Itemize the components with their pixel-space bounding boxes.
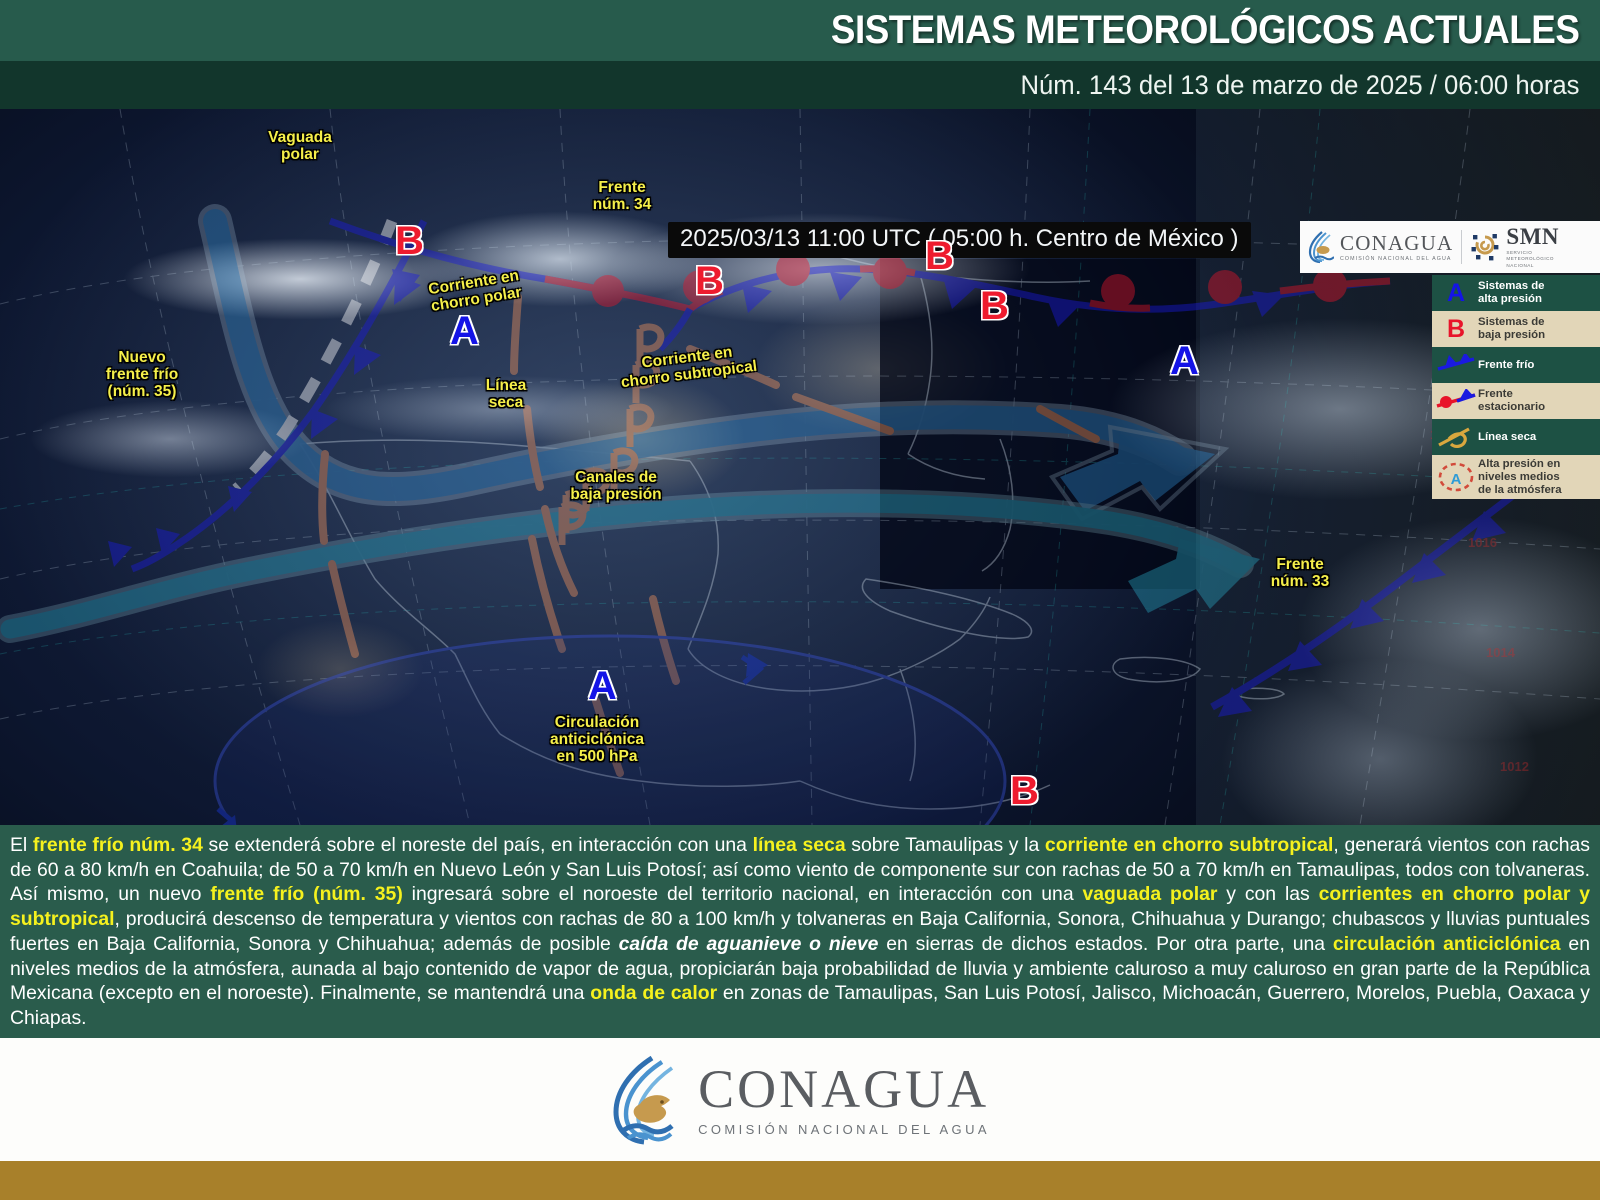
label-circulacion-anticiclonica: Circulación anticiclónica en 500 hPa xyxy=(512,714,682,765)
label-canales-baja-presion: Canales de baja presión xyxy=(536,469,696,503)
forecast-summary-text: El frente frío núm. 34 se extenderá sobr… xyxy=(0,825,1600,1038)
conagua-logo-subtitle: COMISIÓN NACIONAL DEL AGUA xyxy=(1340,256,1453,262)
glyph-low-pressure-south: B xyxy=(1010,769,1039,814)
legend-item-stationary-front: Frente estacionario xyxy=(1432,383,1600,419)
legend-label-cold-front: Frente frío xyxy=(1478,359,1534,372)
weather-bulletin-page: SISTEMAS METEOROLÓGICOS ACTUALES Núm. 14… xyxy=(0,0,1600,1200)
smn-logo-name: SMN xyxy=(1506,225,1559,248)
page-title: SISTEMAS METEOROLÓGICOS ACTUALES xyxy=(831,8,1600,53)
label-nuevo-frente-frio-35: Nuevo frente frío (núm. 35) xyxy=(68,349,216,400)
legend-item-cold-front: Frente frío xyxy=(1432,347,1600,383)
utc-timestamp: 2025/03/13 11:00 UTC ( 05:00 h. Centro d… xyxy=(668,222,1251,258)
header-subtitle-bar: Núm. 143 del 13 de marzo de 2025 / 06:00… xyxy=(0,61,1600,109)
glyph-low-pressure-ne: B xyxy=(925,234,954,279)
smn-logo: SMN SERVICIO METEOROLÓGICO NACIONAL xyxy=(1470,225,1559,269)
glyph-low-pressure-east: B xyxy=(980,284,1009,329)
conagua-logo-name: CONAGUA xyxy=(1340,233,1453,254)
logo-divider xyxy=(1461,230,1462,264)
svg-text:A: A xyxy=(1451,471,1462,488)
A-letter-icon: A xyxy=(1434,278,1478,308)
smn-spiral-icon xyxy=(1470,231,1500,263)
glyph-high-pressure-atlantic: A xyxy=(1170,339,1199,384)
legend-label-stationary-front: Frente estacionario xyxy=(1478,388,1545,414)
satellite-imagery-background xyxy=(0,109,1600,825)
legend-label-high-pressure: Sistemas de alta presión xyxy=(1478,280,1544,306)
footer-gold-bar xyxy=(0,1161,1600,1200)
dry-line-icon xyxy=(1434,422,1478,452)
smn-logo-subtitle: SERVICIO METEOROLÓGICO NACIONAL xyxy=(1506,250,1559,269)
footer-logo-name: CONAGUA xyxy=(698,1062,990,1116)
label-vaguada-polar: Vaguada polar xyxy=(230,129,370,163)
conagua-footer-logo: CONAGUA COMISIÓN NACIONAL DEL AGUA xyxy=(610,1054,990,1146)
footer-logo-subtitle: COMISIÓN NACIONAL DEL AGUA xyxy=(698,1122,990,1137)
legend-label-dry-line: Línea seca xyxy=(1478,431,1536,444)
glyph-high-pressure-500hpa: A xyxy=(588,664,617,709)
legend-item-mid-level-high: A Alta presión en niveles medios de la a… xyxy=(1432,455,1600,499)
glyph-low-pressure-north: B xyxy=(695,259,724,304)
legend-item-high-pressure: A Sistemas de alta presión xyxy=(1432,275,1600,311)
legend-label-mid-level-high: Alta presión en niveles medios de la atm… xyxy=(1478,458,1562,496)
legend-label-low-pressure: Sistemas de baja presión xyxy=(1478,316,1545,342)
label-frente-34: Frente núm. 34 xyxy=(562,179,682,213)
legend-item-dry-line: Línea seca xyxy=(1432,419,1600,455)
conagua-logo: CONAGUA COMISIÓN NACIONAL DEL AGUA xyxy=(1308,230,1453,264)
B-letter-icon: B xyxy=(1434,314,1478,344)
conagua-smn-logo-strip: CONAGUA COMISIÓN NACIONAL DEL AGUA xyxy=(1300,221,1600,273)
legend-item-low-pressure: B Sistemas de baja presión xyxy=(1432,311,1600,347)
conagua-water-eagle-footer-icon xyxy=(610,1054,684,1146)
satellite-weather-map[interactable]: 1020 1016 1016 1014 1012 2025/03/13 11:0… xyxy=(0,109,1600,825)
glyph-low-pressure-nw: B xyxy=(395,219,424,264)
footer-logo-area: CONAGUA COMISIÓN NACIONAL DEL AGUA xyxy=(0,1038,1600,1161)
label-linea-seca: Línea seca xyxy=(460,377,552,411)
map-legend: A Sistemas de alta presión B Sistemas de… xyxy=(1432,275,1600,499)
conagua-water-eagle-icon xyxy=(1308,230,1334,264)
stationary-front-icon xyxy=(1434,386,1478,416)
label-frente-33: Frente núm. 33 xyxy=(1245,556,1355,590)
glyph-high-pressure-west: A xyxy=(450,309,479,354)
cold-front-icon xyxy=(1434,350,1478,380)
mid-level-high-icon: A xyxy=(1434,462,1478,492)
bulletin-number-date: Núm. 143 del 13 de marzo de 2025 / 06:00… xyxy=(1020,70,1600,101)
header-title-bar: SISTEMAS METEOROLÓGICOS ACTUALES xyxy=(0,0,1600,61)
